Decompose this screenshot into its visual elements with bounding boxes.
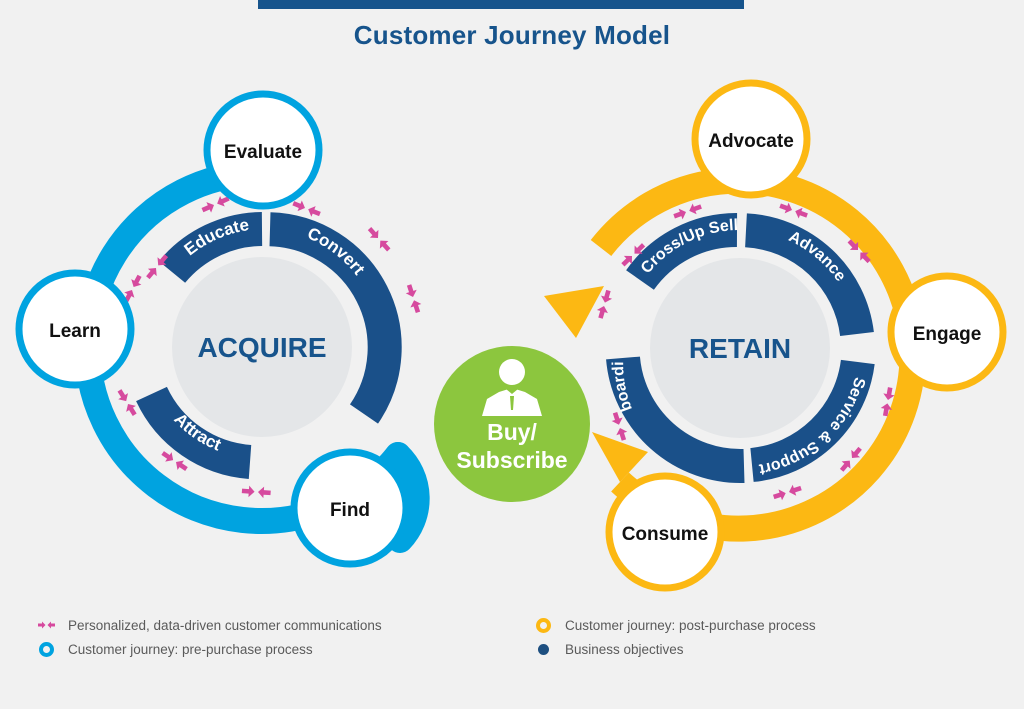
buy-subscribe-node[interactable]: Buy/ Subscribe	[434, 346, 590, 502]
legend-label: Business objectives	[565, 642, 684, 657]
acquire-center-label: ACQUIRE	[197, 332, 326, 363]
buy-subscribe-line1: Buy/	[487, 419, 537, 445]
retain-arrow-head	[544, 286, 604, 338]
legend-left: Personalized, data-driven customer commu…	[36, 613, 382, 661]
navy-dot-icon	[533, 644, 553, 655]
legend-label: Customer journey: post-purchase process	[565, 618, 816, 633]
stage-evaluate-label: Evaluate	[224, 142, 302, 163]
stage-learn[interactable]: Learn	[19, 273, 131, 385]
legend-label: Personalized, data-driven customer commu…	[68, 618, 382, 633]
legend-item-business-objectives: Business objectives	[533, 637, 816, 661]
acquire-cluster: Educate Convert Attract ACQUIRE	[19, 94, 423, 564]
buy-subscribe-line2: Subscribe	[456, 447, 567, 473]
legend-item-pre-purchase: Customer journey: pre-purchase process	[36, 637, 382, 661]
stage-evaluate[interactable]: Evaluate	[207, 94, 319, 206]
yellow-ring-icon	[533, 618, 553, 633]
retain-center-label: RETAIN	[689, 333, 791, 364]
double-arrow-icon	[36, 618, 56, 632]
stage-engage-label: Engage	[913, 324, 982, 345]
stage-advocate-label: Advocate	[708, 131, 794, 152]
stage-find[interactable]: Find	[294, 452, 406, 564]
legend-label: Customer journey: pre-purchase process	[68, 642, 313, 657]
legend-right: Customer journey: post-purchase process …	[533, 613, 816, 661]
retain-arc-tail	[592, 432, 648, 482]
customer-journey-diagram: Educate Convert Attract ACQUIRE	[0, 0, 1024, 709]
legend-item-post-purchase: Customer journey: post-purchase process	[533, 613, 816, 637]
stage-engage[interactable]: Engage	[891, 276, 1003, 388]
legend-item-communications: Personalized, data-driven customer commu…	[36, 613, 382, 637]
stage-consume[interactable]: Consume	[609, 476, 721, 588]
stage-learn-label: Learn	[49, 321, 101, 342]
stage-find-label: Find	[330, 500, 370, 521]
blue-ring-icon	[36, 642, 56, 657]
stage-consume-label: Consume	[622, 524, 709, 545]
stage-advocate[interactable]: Advocate	[695, 83, 807, 195]
